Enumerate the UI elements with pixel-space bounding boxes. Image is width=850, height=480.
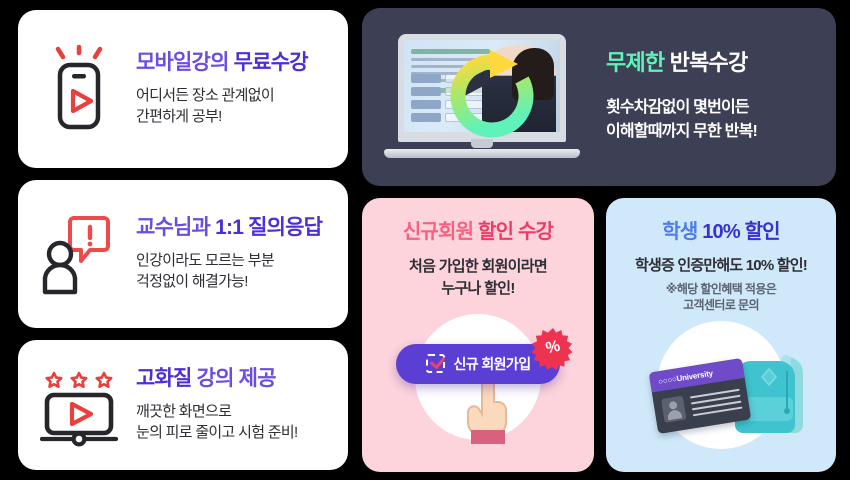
hero-text-block: 무제한 반복수강 횟수차감없이 몇번이든 이해할때까지 무한 반복! [600, 50, 836, 144]
blue-note: ※해당 할인혜택 적용은 고객센터로 문의 [606, 281, 836, 313]
blue-note-line-1: ※해당 할인혜택 적용은 [606, 281, 836, 297]
blue-note-line-2: 고객센터로 문의 [606, 297, 836, 313]
laptop-lecture-icon [362, 8, 600, 186]
laptop-notch [471, 139, 493, 148]
card-body: 깨끗한 화면으로 눈의 피로 줄이고 시험 준비! [136, 401, 332, 444]
card-new-member-discount: 신규회원 할인 수강 처음 가입한 회원이라면 누구나 할인! 신규 회원가입 [362, 198, 594, 472]
hero-body-line-2: 이해할때까지 무한 반복! [606, 120, 820, 144]
pink-title-light: 신규회원 [403, 221, 473, 243]
mobile-play-icon [40, 41, 118, 137]
blue-visual: ○○○○University [606, 317, 836, 453]
card-text-block: 모바일강의 무료수강 어디서든 장소 관계없이 간편하게 공부! [136, 51, 332, 127]
checkbox-checked-icon [426, 354, 445, 373]
card-title-light: 교수님과 [136, 216, 210, 239]
card-body-line-2: 걱정없이 해결가능! [136, 271, 332, 292]
pink-body: 처음 가입한 회원이라면 누구나 할인! [362, 256, 594, 300]
card-body-line-1: 깨끗한 화면으로 [136, 401, 332, 422]
card-body-line-2: 눈의 피로 줄이고 시험 준비! [136, 422, 332, 443]
id-card-photo [661, 396, 686, 423]
card-title: 고화질 강의 제공 [136, 367, 332, 392]
hero-title-strong: 무제한 [606, 50, 664, 75]
pink-title: 신규회원 할인 수강 [362, 220, 594, 244]
id-card-info-lines [690, 389, 743, 421]
hero-body: 횟수차감없이 몇번이든 이해할때까지 무한 반복! [606, 96, 820, 144]
blue-title-light: 학생 [662, 221, 697, 243]
card-title-strong: 고화질 [136, 367, 192, 390]
card-mobile-free-lecture: 모바일강의 무료수강 어디서든 장소 관계없이 간편하게 공부! [18, 10, 348, 168]
percent-starburst-icon: % [533, 328, 573, 368]
card-title-light: 모바일강의 [136, 51, 229, 74]
repeat-arrow-icon [446, 50, 538, 142]
card-body-line-1: 어디서든 장소 관계없이 [136, 85, 332, 106]
signup-button-label: 신규 회원가입 [454, 354, 531, 374]
card-body: 인강이라도 모르는 부분 걱정없이 해결가능! [136, 250, 332, 293]
blue-body: 학생증 인증만해도 10% 할인! [606, 255, 836, 276]
card-title: 모바일강의 무료수강 [136, 51, 332, 76]
card-high-quality-lecture: 고화질 강의 제공 깨끗한 화면으로 눈의 피로 줄이고 시험 준비! [18, 340, 348, 470]
pink-body-line-2: 누구나 할인! [362, 278, 594, 300]
pointing-hand-icon [462, 374, 516, 444]
card-text-block: 고화질 강의 제공 깨끗한 화면으로 눈의 피로 줄이고 시험 준비! [136, 367, 332, 443]
card-body-line-1: 인강이라도 모르는 부분 [136, 250, 332, 271]
card-student-discount: 학생 10% 할인 학생증 인증만해도 10% 할인! ※해당 할인혜택 적용은… [606, 198, 836, 472]
laptop-illustration [384, 34, 580, 162]
card-title: 교수님과 1:1 질의응답 [136, 216, 332, 241]
promo-banner: 모바일강의 무료수강 어디서든 장소 관계없이 간편하게 공부! 교수님과 1:… [0, 0, 850, 480]
laptop-base [384, 149, 580, 158]
card-one-to-one-qna: 교수님과 1:1 질의응답 인강이라도 모르는 부분 걱정없이 해결가능! [18, 180, 348, 328]
pink-body-line-1: 처음 가입한 회원이라면 [362, 256, 594, 278]
card-title-strong: 1:1 질의응답 [215, 216, 322, 239]
blue-title-strong: 10% 할인 [702, 221, 780, 243]
id-card-university-label: ○○○○University [657, 369, 713, 387]
hero-title: 무제한 반복수강 [606, 50, 820, 76]
pink-visual: 신규 회원가입 % [362, 308, 594, 444]
card-unlimited-repeat: 무제한 반복수강 횟수차감없이 몇번이든 이해할때까지 무한 반복! [362, 8, 836, 186]
card-title-light: 강의 제공 [197, 367, 276, 390]
blue-title: 학생 10% 할인 [606, 220, 836, 244]
hero-title-light: 반복수강 [670, 50, 748, 75]
card-text-block: 교수님과 1:1 질의응답 인강이라도 모르는 부분 걱정없이 해결가능! [136, 216, 332, 292]
card-title-strong: 무료수강 [234, 51, 308, 74]
pink-title-strong: 할인 수강 [478, 221, 553, 243]
hero-body-line-1: 횟수차감없이 몇번이든 [606, 96, 820, 120]
video-player-stars-icon [40, 357, 118, 453]
card-body-line-2: 간편하게 공부! [136, 106, 332, 127]
card-body: 어디서든 장소 관계없이 간편하게 공부! [136, 85, 332, 128]
person-question-icon [40, 206, 118, 302]
